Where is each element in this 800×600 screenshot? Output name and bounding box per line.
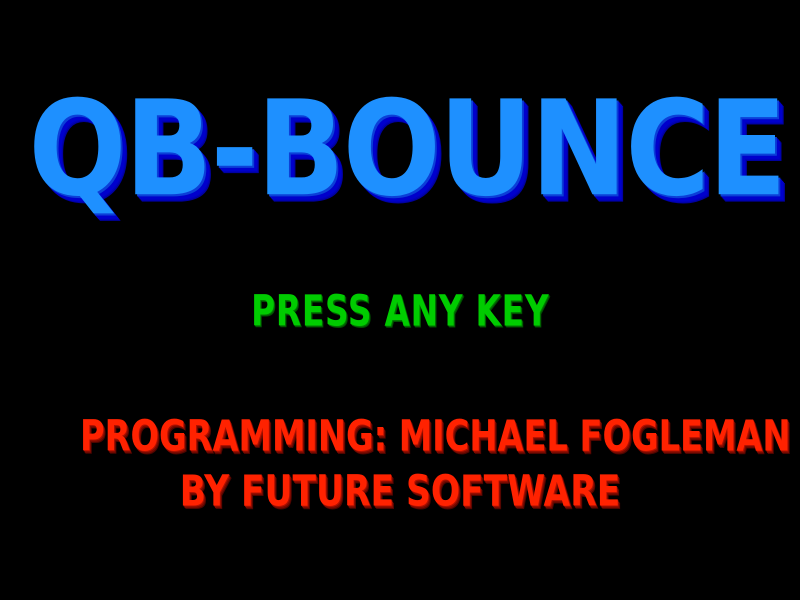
prompt-container: PRESS ANY KEY [0,290,800,332]
credit-line-publisher: BY FUTURE SOFTWARE [72,469,728,513]
credits-container: PROGRAMMING: MICHAEL FOGLEMAN BY FUTURE … [0,414,800,513]
splash-screen[interactable]: QB-BOUNCE PRESS ANY KEY PROGRAMMING: MIC… [0,0,800,600]
game-title: QB-BOUNCE [28,84,785,215]
title-container: QB-BOUNCE [0,84,800,208]
press-any-key-prompt[interactable]: PRESS ANY KEY [251,290,549,333]
credit-line-programming: PROGRAMMING: MICHAEL FOGLEMAN [80,414,720,458]
